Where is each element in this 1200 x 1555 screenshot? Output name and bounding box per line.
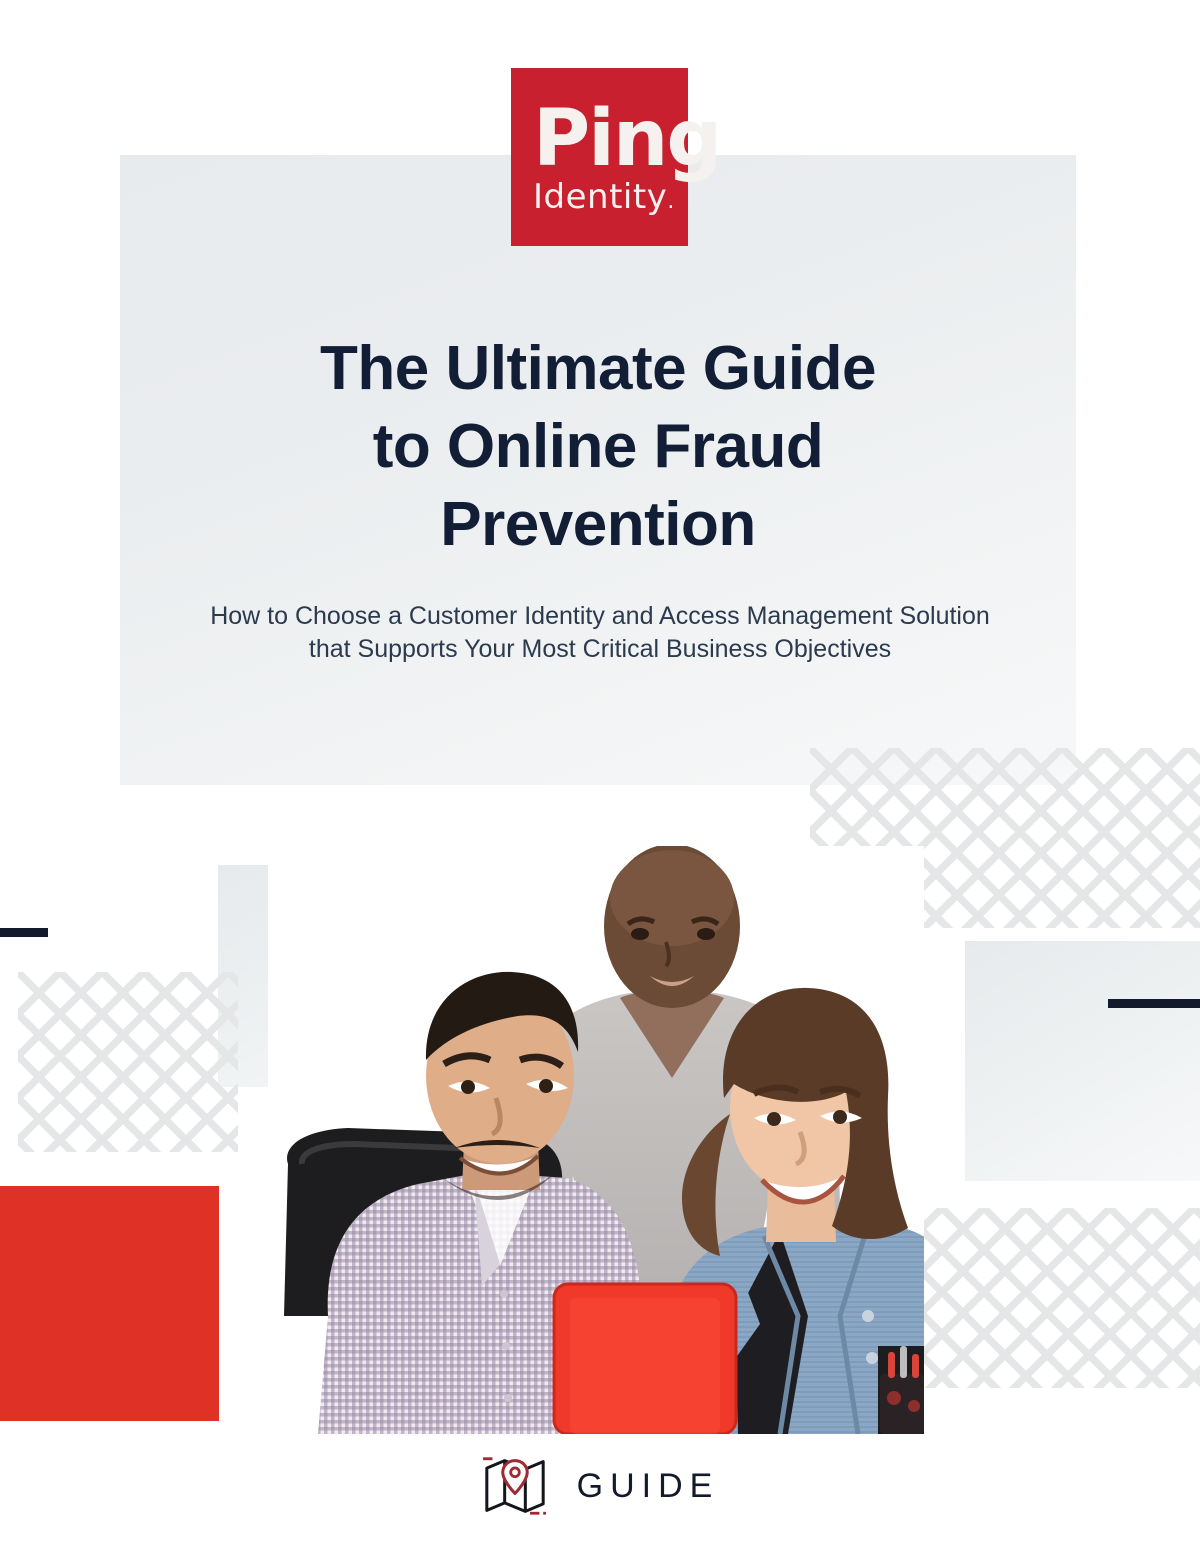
page-title: The Ultimate Guide to Online Fraud Preve… — [120, 330, 1076, 564]
ping-identity-logo: Ping Identity. — [511, 68, 688, 246]
folded-map-pin-icon — [481, 1455, 549, 1517]
document-cover-page: Ping Identity. The Ultimate Guide to Onl… — [0, 0, 1200, 1555]
logo-registered-mark: . — [667, 189, 675, 214]
title-line-1: The Ultimate Guide — [120, 330, 1076, 408]
decorative-square-right — [965, 941, 1200, 1181]
title-line-3: Prevention — [120, 486, 1076, 564]
decorative-dash-left — [0, 928, 48, 937]
subtitle-line-2: that Supports Your Most Critical Busines… — [150, 633, 1050, 666]
dot-pattern-bottom-right — [900, 1208, 1200, 1388]
page-subtitle: How to Choose a Customer Identity and Ac… — [150, 600, 1050, 666]
dot-pattern-left — [18, 972, 238, 1152]
title-line-2: to Online Fraud — [120, 408, 1076, 486]
decorative-dash-right — [1108, 999, 1200, 1008]
hero-photo-illustration — [268, 846, 924, 1434]
logo-identity-text: Identity — [533, 177, 667, 217]
red-tablet — [554, 1284, 736, 1434]
guide-label: GUIDE — [577, 1467, 720, 1506]
logo-wordmark-ping: Ping — [533, 100, 720, 178]
decorative-square-red — [0, 1186, 219, 1421]
logo-wordmark-identity: Identity. — [533, 180, 675, 219]
hero-photo — [268, 846, 924, 1434]
subtitle-line-1: How to Choose a Customer Identity and Ac… — [150, 600, 1050, 633]
footer-badge: GUIDE — [0, 1455, 1200, 1517]
